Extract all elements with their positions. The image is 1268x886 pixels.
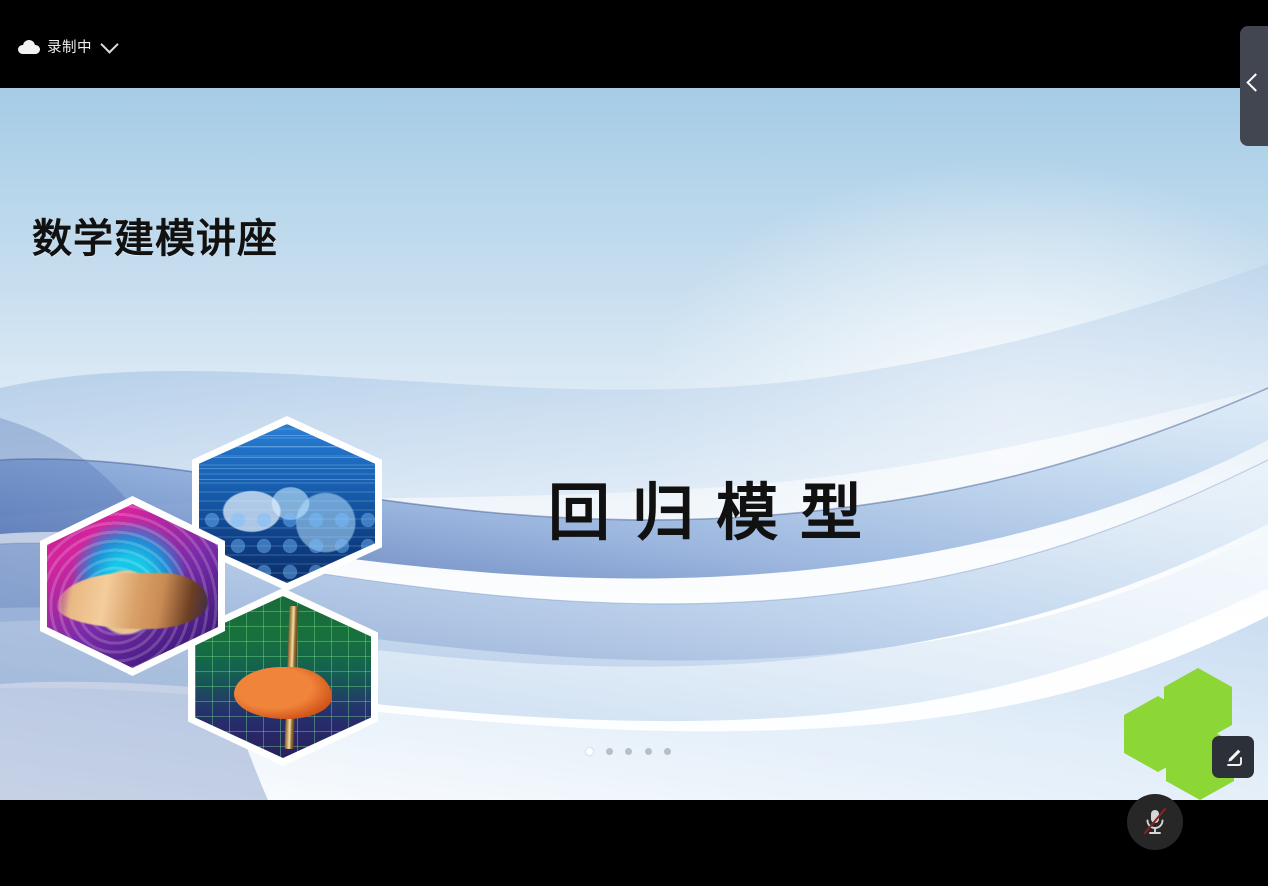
pagination-dot-3[interactable] bbox=[625, 748, 632, 755]
side-panel-toggle[interactable] bbox=[1240, 26, 1268, 146]
hexagon-collage bbox=[20, 408, 380, 768]
annotate-button[interactable] bbox=[1212, 736, 1254, 778]
pagination-dots[interactable] bbox=[586, 748, 671, 755]
pagination-dot-2[interactable] bbox=[606, 748, 613, 755]
green-hexagon-cluster bbox=[1122, 668, 1268, 800]
microphone-muted-icon bbox=[1141, 807, 1169, 837]
pencil-icon bbox=[1221, 745, 1245, 769]
slide-headline: 回归模型 bbox=[548, 462, 884, 552]
bottom-bar bbox=[0, 800, 1268, 886]
recording-status-label: 录制中 bbox=[47, 36, 92, 57]
top-bar: 录制中 bbox=[0, 0, 1268, 88]
pagination-dot-5[interactable] bbox=[664, 748, 671, 755]
pagination-dot-4[interactable] bbox=[645, 748, 652, 755]
slide-header-title: 数学建模讲座 bbox=[32, 206, 278, 264]
recording-status-button[interactable]: 录制中 bbox=[18, 36, 116, 57]
chevron-left-icon bbox=[1246, 73, 1264, 91]
pagination-dot-1[interactable] bbox=[586, 748, 593, 755]
presentation-viewer: 录制中 bbox=[0, 0, 1268, 886]
microphone-muted-button[interactable] bbox=[1127, 794, 1183, 850]
chevron-down-icon[interactable] bbox=[100, 35, 118, 53]
slide-canvas[interactable]: 数学建模讲座 回归模型 bbox=[0, 88, 1268, 800]
cloud-icon bbox=[18, 40, 40, 54]
